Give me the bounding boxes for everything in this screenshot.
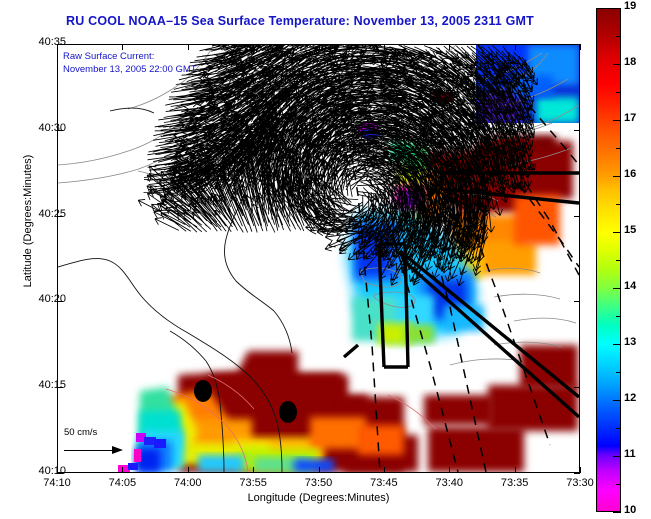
colorbar-tick-mark [613,456,621,457]
colorbar-minor-tick [616,260,621,261]
x-axis-tick-mark-top [449,44,450,50]
x-axis-tick-label: 73:35 [485,477,545,489]
colorbar-tick-label: 15 [624,224,651,236]
map-canvas: Raw Surface Current: November 13, 2005 2… [58,45,579,472]
y-axis-tick-mark [57,301,63,302]
x-axis-tick-mark-top [188,44,189,50]
y-axis-tick-mark-right [574,130,580,131]
colorbar-tick-mark [613,176,621,177]
y-axis-tick-mark [57,387,63,388]
x-axis-tick-label: 74:05 [92,477,152,489]
x-axis-tick-mark [57,467,58,473]
x-axis-label: Longitude (Degrees:Minutes) [57,492,580,504]
colorbar-minor-tick [616,92,621,93]
colorbar-tick-mark [613,288,621,289]
annotation-line-2: November 13, 2005 22:00 GMT [63,64,197,77]
x-axis-tick-mark-top [57,44,58,50]
x-axis-tick-mark-top [122,44,123,50]
y-axis-label: Latitude (Degrees:Minutes) [22,121,34,321]
colorbar-tick-label: 12 [624,392,651,404]
y-axis-tick-label: 40:20 [6,293,66,305]
colorbar-tick-label: 11 [624,448,651,460]
station-markers[interactable] [58,45,579,472]
colorbar-tick-label: 17 [624,112,651,124]
x-axis-tick-label: 73:50 [289,477,349,489]
x-axis-tick-mark [319,467,320,473]
x-axis-tick-mark [188,467,189,473]
colorbar-minor-tick [616,148,621,149]
colorbar-tick-mark [613,64,621,65]
x-axis-tick-mark [384,467,385,473]
colorbar-tick-mark [613,232,621,233]
colorbar-minor-tick [616,428,621,429]
station-marker-2 [279,401,297,423]
x-axis-tick-mark [580,467,581,473]
colorbar-tick-mark [613,8,621,9]
annotation-line-1: Raw Surface Current: [63,51,197,64]
colorbar-tick-label: 10 [624,504,651,516]
colorbar-minor-tick [616,372,621,373]
colorbar-tick-label: 18 [624,56,651,68]
colorbar-minor-tick [616,484,621,485]
x-axis-tick-label: 74:00 [158,477,218,489]
x-axis-tick-label: 73:40 [419,477,479,489]
x-axis-tick-mark-top [319,44,320,50]
colorbar-tick-label: 13 [624,336,651,348]
y-axis-tick-mark-right [574,216,580,217]
x-axis-tick-mark [515,467,516,473]
x-axis-tick-mark [122,467,123,473]
y-axis-tick-mark [57,130,63,131]
y-axis-tick-mark-right [574,301,580,302]
colorbar-tick-mark [613,400,621,401]
y-axis-tick-label: 40:25 [6,208,66,220]
x-axis-tick-mark-top [515,44,516,50]
colorbar-tick-label: 19 [624,0,651,12]
x-axis-tick-mark-top [384,44,385,50]
x-axis-tick-label: 73:45 [354,477,414,489]
y-axis-tick-label: 40:30 [6,122,66,134]
colorbar-minor-tick [616,204,621,205]
colorbar-tick-label: 14 [624,280,651,292]
x-axis-tick-mark [253,467,254,473]
colorbar-tick-mark [613,120,621,121]
map-plot-area[interactable]: Raw Surface Current: November 13, 2005 2… [57,44,580,473]
station-marker-1 [194,380,212,402]
colorbar-tick-label: 16 [624,168,651,180]
figure-title: RU COOL NOAA–15 Sea Surface Temperature:… [0,14,600,28]
y-axis-tick-mark [57,216,63,217]
y-axis-tick-mark-right [574,387,580,388]
velocity-scale-bar: 50 cm/s [64,427,126,458]
sst-map-figure: RU COOL NOAA–15 Sea Surface Temperature:… [0,0,651,519]
current-annotation: Raw Surface Current: November 13, 2005 2… [63,51,197,76]
x-axis-tick-mark-top [580,44,581,50]
x-axis-tick-mark-top [253,44,254,50]
right-arrow-icon [64,444,126,458]
x-axis-tick-label: 73:55 [223,477,283,489]
x-axis-tick-mark [449,467,450,473]
colorbar-tick-mark [613,344,621,345]
y-axis-tick-mark [57,473,63,474]
x-axis-tick-label: 74:10 [27,477,87,489]
y-axis-tick-label: 40:15 [6,379,66,391]
colorbar-tick-mark [613,512,621,513]
colorbar-minor-tick [616,316,621,317]
colorbar-minor-tick [616,36,621,37]
scale-bar-label: 50 cm/s [64,427,126,438]
y-axis-tick-mark-right [574,473,580,474]
